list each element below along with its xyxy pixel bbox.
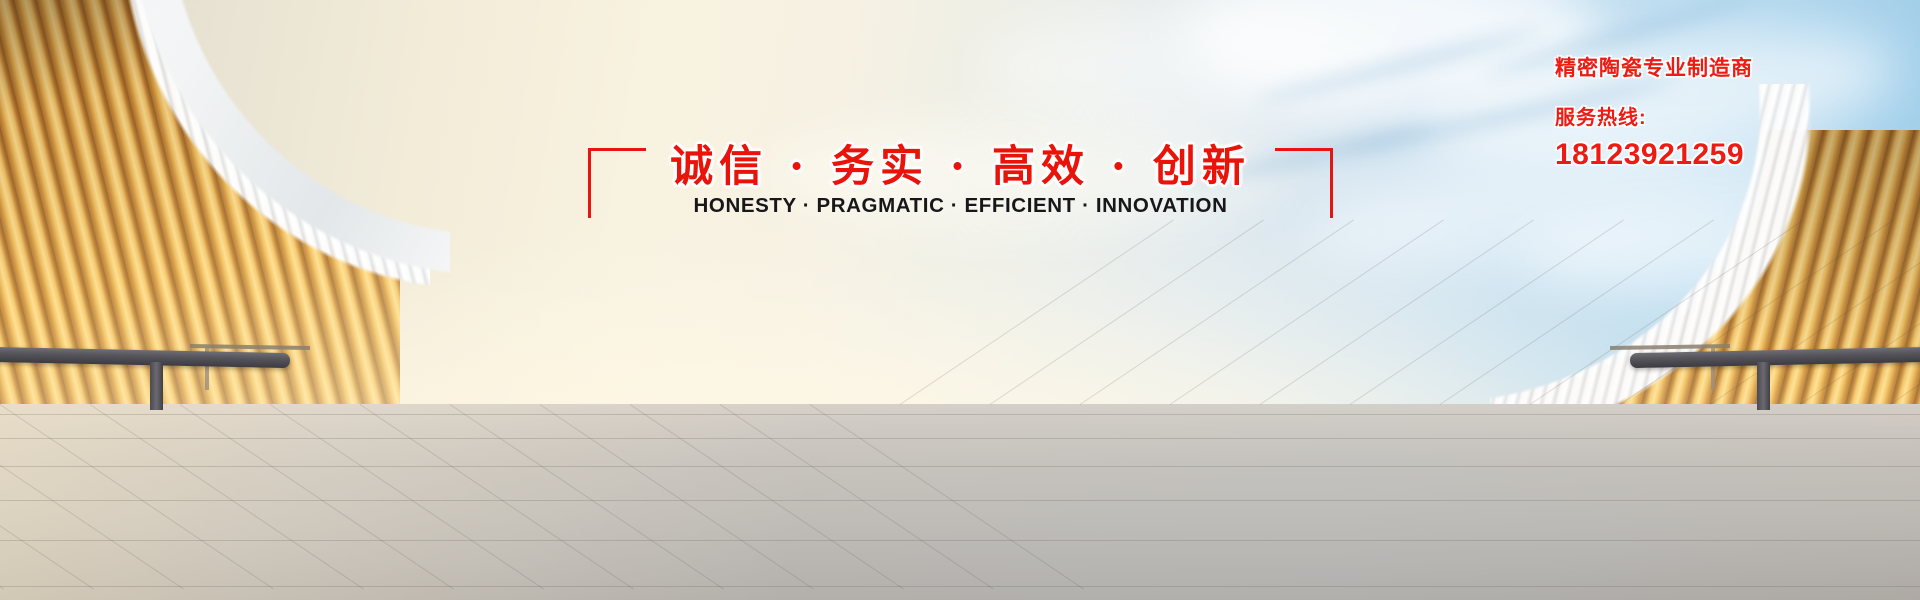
slogan-block: 诚信 · 务实 · 高效 · 创新 HONESTY · PRAGMATIC · … — [588, 132, 1333, 232]
slogan-chinese: 诚信 · 务实 · 高效 · 创新 — [588, 132, 1333, 194]
company-tagline: 精密陶瓷专业制造商 — [1555, 52, 1895, 82]
hotline-label: 服务热线: — [1555, 101, 1895, 130]
slogan-english: HONESTY · PRAGMATIC · EFFICIENT · INNOVA… — [588, 194, 1333, 218]
hotline-number[interactable]: 18123921259 — [1555, 138, 1895, 172]
contact-info-block: 精密陶瓷专业制造商 服务热线: 18123921259 — [1555, 52, 1895, 172]
promo-banner: 诚信 · 务实 · 高效 · 创新 HONESTY · PRAGMATIC · … — [0, 0, 1920, 600]
